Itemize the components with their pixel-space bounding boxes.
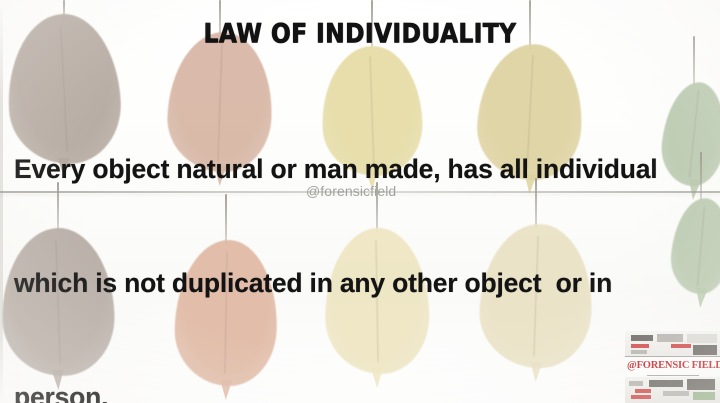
- body-text: Every object natural or man made, has al…: [14, 74, 708, 403]
- forensic-field-banner: @FORENSIC FIELD: [625, 331, 720, 403]
- page-title: LAW OF INDIVIDUALITY: [25, 18, 695, 49]
- banner-thumb-1: [631, 335, 653, 341]
- banner-thumb-2: [657, 334, 683, 342]
- banner-thumb-5: [629, 381, 643, 386]
- banner-tag-4: [635, 389, 651, 393]
- banner-thumb-9: [693, 392, 715, 400]
- banner-rule-1: [625, 356, 720, 357]
- banner-thumb-3: [687, 334, 717, 343]
- banner-thumb-7: [687, 379, 715, 390]
- banner-thumb-4: [693, 345, 717, 355]
- banner-tag-1: [631, 344, 649, 348]
- banner-tag-2: [671, 344, 691, 348]
- wall-seam: [0, 0, 3, 403]
- body-line-1: Every object natural or man made, has al…: [14, 150, 708, 188]
- banner-rule-2: [647, 375, 699, 376]
- forensic-poster: LAW OF INDIVIDUALITY @forensicfield Ever…: [0, 0, 720, 403]
- banner-tag-3: [631, 350, 647, 354]
- banner-thumb-8: [663, 391, 689, 396]
- banner-thumb-6: [649, 380, 683, 387]
- body-line-2: which is not duplicated in any other obj…: [14, 264, 708, 302]
- body-line-3: person.: [14, 378, 708, 403]
- banner-title: @FORENSIC FIELD: [627, 360, 720, 371]
- banner-top-strip: [625, 331, 720, 357]
- banner-tag-5: [631, 395, 651, 399]
- banner-bottom-strip: [625, 377, 720, 403]
